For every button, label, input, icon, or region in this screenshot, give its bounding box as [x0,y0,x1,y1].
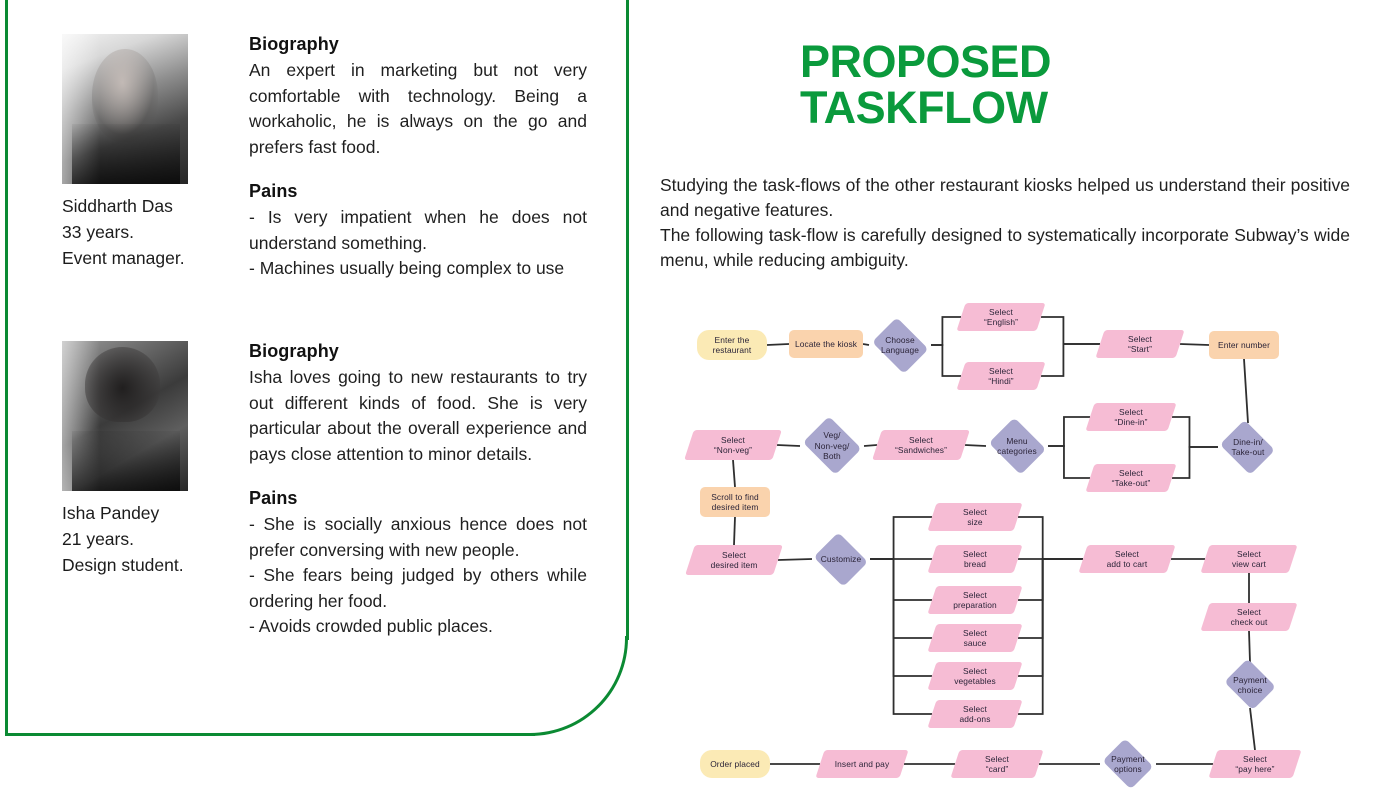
flow-edge-veg-nonveg-both--select-sandwiches [864,445,877,446]
flow-node-select-dine-in: Select“Dine-in” [1090,403,1172,431]
flow-node-select-sauce: Selectsauce [932,624,1018,652]
flow-node-select-non-veg: Select“Non-veg” [689,430,777,460]
flow-node-insert-and-pay: Insert and pay [820,750,904,778]
flow-node-select-desired-item: Selectdesired item [690,545,778,575]
flow-edge-select-sandwiches--menu-categories [965,445,986,446]
flow-edge-payment-choice--select-pay-here [1250,708,1255,750]
flow-node-label: Select“Dine-in” [1112,407,1149,428]
flow-node-label: Veg/Non-veg/Both [813,430,852,462]
flow-edge-select-start--enter-number [1180,344,1209,345]
flow-node-order-placed: Order placed [700,750,770,778]
flow-node-label: Customize [819,554,863,565]
flow-edge-select-sauce--select-add-to-cart [1018,559,1083,638]
flow-edge-select-hindi--select-start [1041,344,1100,376]
flow-edge-select-dine-in--dine-in-take-out [1172,417,1218,447]
flow-node-label: Menucategories [995,436,1039,457]
flow-node-label: Paymentoptions [1109,754,1147,775]
flow-node-label: Selectadd to cart [1105,549,1150,570]
flow-node-payment-choice: Paymentchoice [1222,662,1278,708]
flow-node-label: Selectview cart [1230,549,1268,570]
flow-node-select-sandwiches: Select“Sandwiches” [877,430,965,460]
flow-node-label: Order placed [708,759,762,770]
flow-node-menu-categories: Menucategories [986,421,1048,471]
flow-node-label: Selectsize [961,507,989,528]
flow-node-label: Selectpreparation [951,590,998,611]
flow-node-label: Selectadd-ons [958,704,993,725]
flow-node-label: Scroll to finddesired item [709,492,760,513]
flow-node-select-start: Select“Start” [1100,330,1180,358]
flow-node-veg-nonveg-both: Veg/Non-veg/Both [800,420,864,472]
flow-node-select-hindi: Select“Hindi” [961,362,1041,390]
flow-edge-select-check-out--payment-choice [1249,631,1250,662]
flow-node-label: Select“Non-veg” [712,435,754,456]
flow-node-label: Select“English” [982,307,1020,328]
flow-edge-select-size--select-add-to-cart [1018,517,1083,559]
flow-edge-enter-number--dine-in-take-out [1244,359,1248,423]
flow-edge-choose-language--select-english [931,317,961,345]
flow-edge-enter-the-restaurant--locate-the-kiosk [767,344,789,345]
flow-node-label: Insert and pay [833,759,891,770]
flow-node-select-pay-here: Select“pay here” [1213,750,1297,778]
flow-node-select-vegetables: Selectvegetables [932,662,1018,690]
flow-edge-customize--select-preparation [870,559,932,600]
flow-edge-select-take-out--dine-in-take-out [1172,447,1218,478]
flow-node-select-preparation: Selectpreparation [932,586,1018,614]
flow-node-select-add-ons: Selectadd-ons [932,700,1018,728]
flow-node-select-bread: Selectbread [932,545,1018,573]
flow-edge-customize--select-vegetables [870,559,932,676]
flow-node-label: Selectvegetables [952,666,998,687]
flow-node-label: Enter therestaurant [711,335,754,356]
flow-node-label: Select“Hindi” [986,366,1015,387]
flow-node-scroll-to-find-desired-item: Scroll to finddesired item [700,487,770,517]
flow-node-label: Select“card” [983,754,1011,775]
flow-node-select-check-out: Selectcheck out [1205,603,1293,631]
flow-node-label: Select“Take-out” [1110,468,1153,489]
flow-edge-select-non-veg--scroll-to-find-desired-item [733,460,735,487]
flow-node-label: Paymentchoice [1231,675,1269,696]
flow-edge-menu-categories--select-take-out [1048,446,1090,478]
flow-node-select-size: Selectsize [932,503,1018,531]
flow-node-locate-the-kiosk: Locate the kiosk [789,330,863,358]
flow-node-label: Locate the kiosk [793,339,859,350]
flow-node-customize: Customize [812,535,870,583]
flow-edge-select-non-veg--veg-nonveg-both [777,445,800,446]
flow-node-choose-language: ChooseLanguage [869,321,931,369]
flow-node-enter-number: Enter number [1209,331,1279,359]
taskflow-edges [0,0,1400,805]
flow-edge-menu-categories--select-dine-in [1048,417,1090,446]
flow-edge-select-english--select-start [1041,317,1100,344]
flow-node-label: ChooseLanguage [879,335,921,356]
taskflow-diagram: Enter therestaurantLocate the kioskChoos… [0,0,1400,805]
flow-edge-scroll-to-find-desired-item--select-desired-item [734,517,735,545]
flow-node-label: Selectsauce [961,628,989,649]
flow-node-select-take-out: Select“Take-out” [1090,464,1172,492]
flow-edge-customize--select-size [870,517,932,559]
flow-node-label: Select“pay here” [1233,754,1276,775]
flow-node-select-english: Select“English” [961,303,1041,331]
flow-edge-select-preparation--select-add-to-cart [1018,559,1083,600]
flow-node-payment-options: Paymentoptions [1100,742,1156,786]
flow-node-label: Selectdesired item [709,550,760,571]
flow-edge-choose-language--select-hindi [931,345,961,376]
flow-edge-customize--select-add-ons [870,559,932,714]
flow-node-dine-in-take-out: Dine-in/Take-out [1218,423,1278,471]
flow-node-label: Select“Sandwiches” [893,435,949,456]
flow-node-label: Selectbread [961,549,989,570]
flow-edge-select-desired-item--customize [778,559,812,560]
flow-edge-select-add-ons--select-add-to-cart [1018,559,1083,714]
flow-edge-select-vegetables--select-add-to-cart [1018,559,1083,676]
flow-node-label: Selectcheck out [1229,607,1270,628]
flow-node-select-view-cart: Selectview cart [1205,545,1293,573]
flow-node-label: Dine-in/Take-out [1230,437,1267,458]
flow-node-label: Select“Start” [1126,334,1154,355]
flow-node-label: Enter number [1216,340,1272,351]
flow-edge-customize--select-sauce [870,559,932,638]
flow-node-select-add-to-cart: Selectadd to cart [1083,545,1171,573]
flow-node-select-card: Select“card” [955,750,1039,778]
flow-node-enter-the-restaurant: Enter therestaurant [697,330,767,360]
